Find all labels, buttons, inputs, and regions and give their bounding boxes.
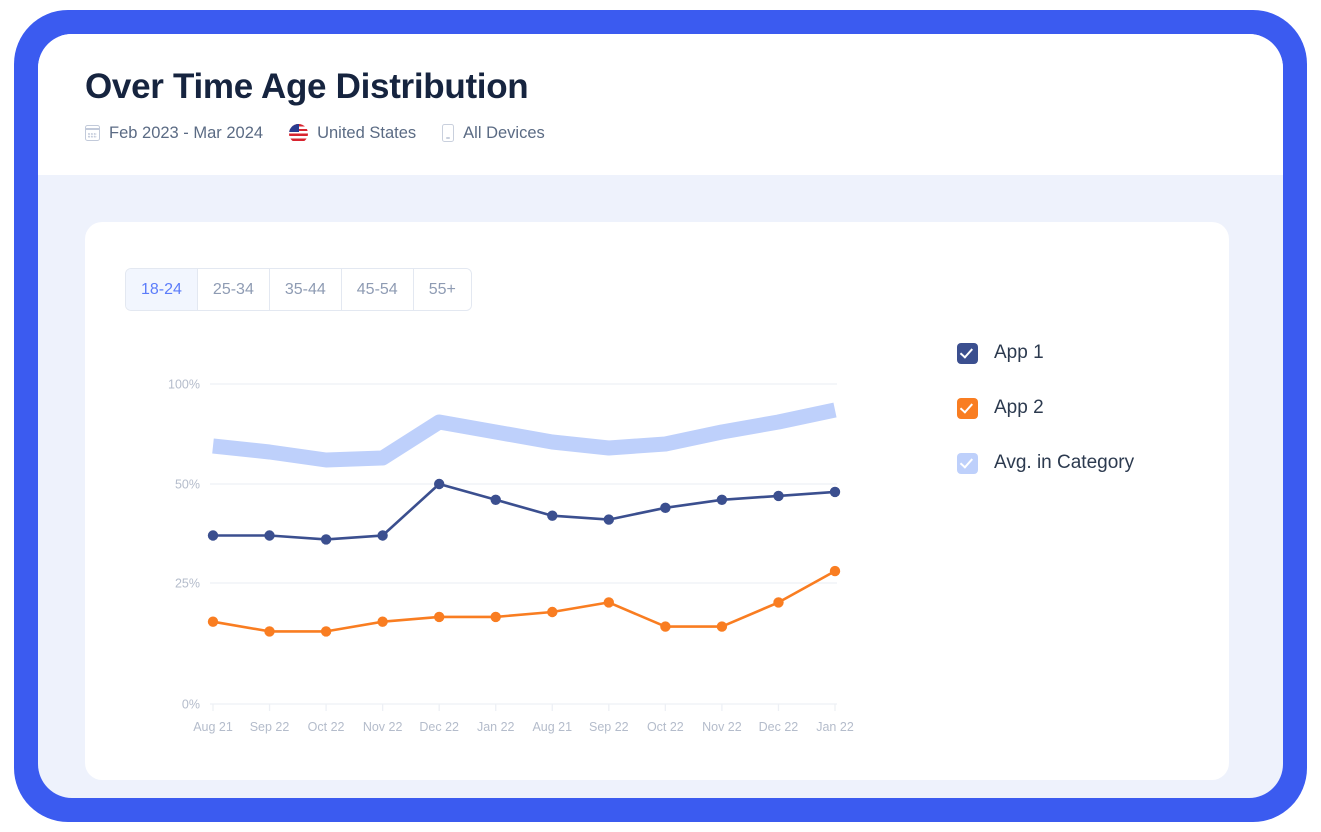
- series-line-app-1: [213, 484, 835, 539]
- data-point[interactable]: [660, 621, 670, 631]
- app-surface: Over Time Age Distribution Feb 2023 - Ma…: [38, 34, 1283, 798]
- us-flag-icon: [289, 124, 308, 143]
- calendar-icon: [85, 125, 100, 141]
- data-point[interactable]: [208, 617, 218, 627]
- data-point[interactable]: [830, 566, 840, 576]
- x-axis-tick-label: Oct 22: [647, 720, 684, 734]
- page-title: Over Time Age Distribution: [85, 68, 1283, 107]
- chart-svg: 0%25%50%100%Aug 21Sep 22Oct 22Nov 22Dec …: [85, 222, 1229, 780]
- data-point[interactable]: [717, 621, 727, 631]
- x-axis-tick-label: Jan 22: [816, 720, 854, 734]
- x-axis-tick-label: Sep 22: [589, 720, 629, 734]
- legend-item-app-2[interactable]: App 2: [957, 397, 1134, 419]
- legend-checkbox-app-1[interactable]: [957, 343, 978, 364]
- legend-label-avg-in-category: Avg. in Category: [994, 452, 1134, 474]
- data-point[interactable]: [491, 495, 501, 505]
- y-axis-tick-label: 25%: [175, 577, 200, 591]
- data-point[interactable]: [547, 511, 557, 521]
- country-label: United States: [317, 124, 416, 143]
- data-point[interactable]: [377, 530, 387, 540]
- data-point[interactable]: [604, 514, 614, 524]
- x-axis-tick-label: Aug 21: [532, 720, 572, 734]
- data-point[interactable]: [434, 612, 444, 622]
- page-header: Over Time Age Distribution Feb 2023 - Ma…: [38, 34, 1283, 175]
- legend-label-app-1: App 1: [994, 342, 1044, 364]
- series-line-app-2: [213, 571, 835, 631]
- data-point[interactable]: [208, 530, 218, 540]
- data-point[interactable]: [377, 617, 387, 627]
- data-point[interactable]: [264, 626, 274, 636]
- legend-checkbox-app-2[interactable]: [957, 398, 978, 419]
- x-axis-tick-label: Jan 22: [477, 720, 515, 734]
- x-axis-tick-label: Nov 22: [363, 720, 403, 734]
- data-point[interactable]: [321, 626, 331, 636]
- legend-item-app-1[interactable]: App 1: [957, 342, 1134, 364]
- line-chart: 0%25%50%100%Aug 21Sep 22Oct 22Nov 22Dec …: [85, 222, 1229, 780]
- chart-card: 18-24 25-34 35-44 45-54 55+ 0%25%50%100%…: [85, 222, 1229, 780]
- legend-checkbox-avg-in-category[interactable]: [957, 453, 978, 474]
- data-point[interactable]: [773, 491, 783, 501]
- app-frame: Over Time Age Distribution Feb 2023 - Ma…: [14, 10, 1307, 822]
- date-range-label: Feb 2023 - Mar 2024: [109, 124, 263, 143]
- data-point[interactable]: [717, 495, 727, 505]
- legend-label-app-2: App 2: [994, 397, 1044, 419]
- x-axis-tick-label: Sep 22: [250, 720, 290, 734]
- y-axis-tick-label: 50%: [175, 478, 200, 492]
- country-filter[interactable]: United States: [289, 124, 416, 143]
- data-point[interactable]: [321, 534, 331, 544]
- data-point[interactable]: [604, 597, 614, 607]
- series-line-avg-in-category: [213, 410, 835, 460]
- device-filter[interactable]: All Devices: [442, 124, 545, 143]
- x-axis-tick-label: Nov 22: [702, 720, 742, 734]
- chart-legend[interactable]: App 1 App 2 Avg. in Category: [957, 342, 1134, 474]
- y-axis-tick-label: 0%: [182, 698, 200, 712]
- device-icon: [442, 124, 454, 142]
- data-point[interactable]: [491, 612, 501, 622]
- data-point[interactable]: [434, 479, 444, 489]
- filter-summary-row: Feb 2023 - Mar 2024 United States All De…: [85, 124, 1283, 143]
- x-axis-tick-label: Dec 22: [419, 720, 459, 734]
- data-point[interactable]: [264, 530, 274, 540]
- x-axis-tick-label: Oct 22: [308, 720, 345, 734]
- y-axis-tick-label: 100%: [168, 378, 200, 392]
- date-range-filter[interactable]: Feb 2023 - Mar 2024: [85, 124, 263, 143]
- data-point[interactable]: [660, 503, 670, 513]
- device-label: All Devices: [463, 124, 545, 143]
- data-point[interactable]: [830, 487, 840, 497]
- data-point[interactable]: [547, 607, 557, 617]
- x-axis-tick-label: Dec 22: [759, 720, 799, 734]
- legend-item-avg-in-category[interactable]: Avg. in Category: [957, 452, 1134, 474]
- data-point[interactable]: [773, 597, 783, 607]
- x-axis-tick-label: Aug 21: [193, 720, 233, 734]
